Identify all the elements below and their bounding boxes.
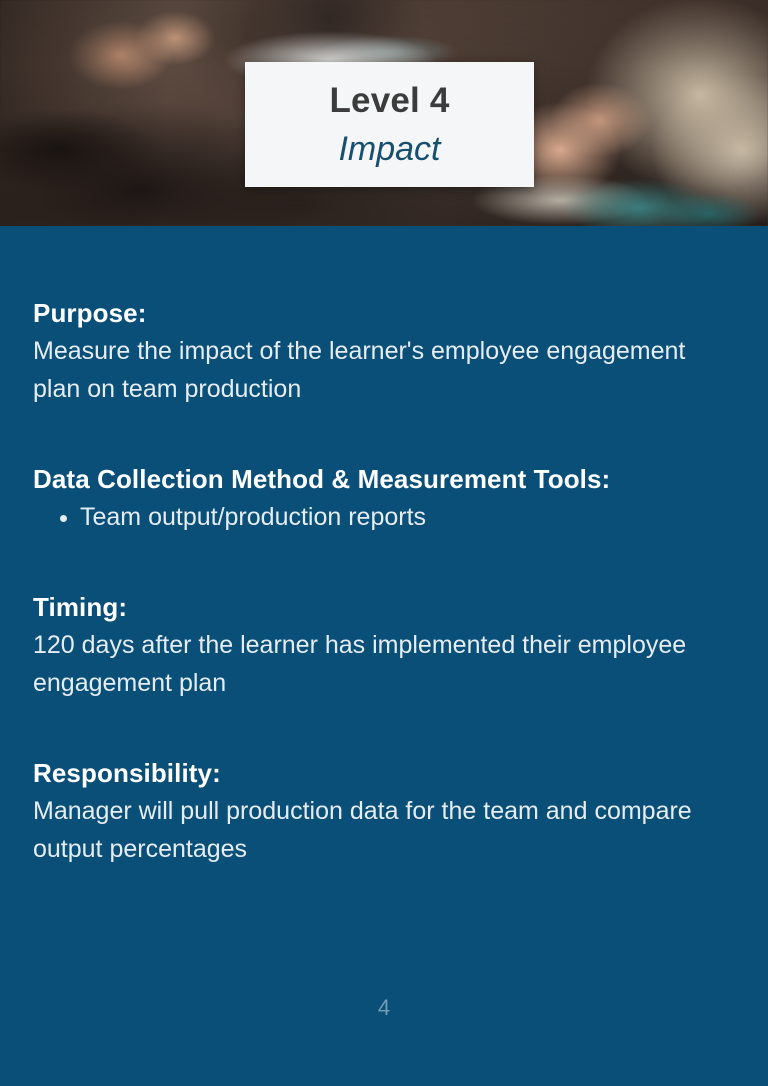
- section-responsibility: Responsibility: Manager will pull produc…: [33, 754, 735, 868]
- section-heading: Timing:: [33, 588, 735, 626]
- section-heading: Responsibility:: [33, 754, 735, 792]
- section-purpose: Purpose: Measure the impact of the learn…: [33, 294, 735, 408]
- section-data-collection: Data Collection Method & Measurement Too…: [33, 460, 735, 536]
- section-timing: Timing: 120 days after the learner has i…: [33, 588, 735, 702]
- title-subtitle-text: Impact: [338, 132, 440, 166]
- section-heading: Purpose:: [33, 294, 735, 332]
- section-body-text: 120 days after the learner has implement…: [33, 626, 693, 702]
- section-body-text: Manager will pull production data for th…: [33, 792, 693, 868]
- section-heading: Data Collection Method & Measurement Too…: [33, 460, 735, 498]
- section-body-text: Measure the impact of the learner's empl…: [33, 332, 693, 408]
- bullet-list: Team output/production reports: [33, 498, 735, 536]
- page-number: 4: [0, 995, 768, 1021]
- slide: Level 4 Impact Purpose: Measure the impa…: [0, 0, 768, 1086]
- slide-body: Purpose: Measure the impact of the learn…: [0, 226, 768, 1086]
- title-level-text: Level 4: [329, 83, 449, 118]
- list-item: Team output/production reports: [33, 498, 735, 536]
- title-card: Level 4 Impact: [245, 62, 534, 187]
